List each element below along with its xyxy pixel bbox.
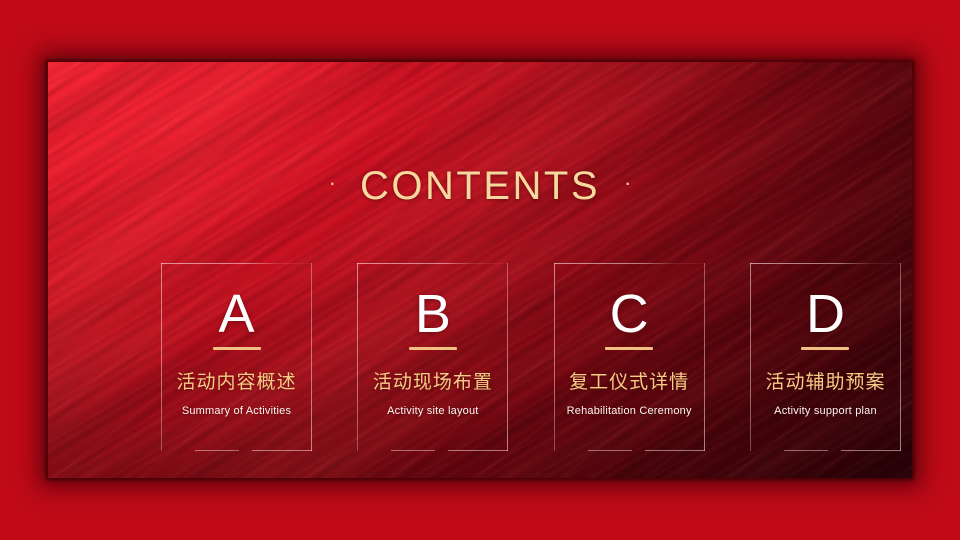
card-title-cn: 活动辅助预案 (744, 367, 907, 394)
card-border-top (161, 263, 312, 264)
card-border-top (554, 263, 705, 264)
card-letter: C (554, 285, 705, 343)
card-border-bottom-left (588, 450, 632, 451)
slide-stage: · CONTENTS · A 活动内容概述 Summary of Activit… (0, 0, 960, 540)
contents-card-list: A 活动内容概述 Summary of Activities B 活动现场布置 … (161, 263, 901, 451)
contents-card-b[interactable]: B 活动现场布置 Activity site layout (357, 263, 508, 451)
card-subtitle-en: Rehabilitation Ceremony (540, 405, 719, 417)
contents-card-d[interactable]: D 活动辅助预案 Activity support plan (750, 263, 901, 451)
contents-card-c[interactable]: C 复工仪式详情 Rehabilitation Ceremony (554, 263, 705, 451)
slide-panel: · CONTENTS · A 活动内容概述 Summary of Activit… (48, 62, 912, 478)
title-left-dot-icon: · (329, 172, 336, 194)
page-title: CONTENTS (360, 164, 600, 209)
card-border-bottom-left (391, 450, 435, 451)
card-border-bottom-right (448, 450, 508, 451)
card-subtitle-en: Summary of Activities (147, 405, 326, 417)
card-subtitle-en: Activity support plan (736, 405, 912, 417)
card-title-cn: 复工仪式详情 (548, 367, 711, 394)
card-letter: A (161, 285, 312, 343)
card-divider-rule (605, 347, 653, 350)
card-divider-rule (801, 347, 849, 350)
card-divider-rule (409, 347, 457, 350)
card-border-bottom-right (645, 450, 705, 451)
card-border-bottom-left (195, 450, 239, 451)
card-border-bottom-right (252, 450, 312, 451)
card-letter: D (750, 285, 901, 343)
contents-card-a[interactable]: A 活动内容概述 Summary of Activities (161, 263, 312, 451)
card-border-top (357, 263, 508, 264)
card-title-cn: 活动内容概述 (155, 367, 318, 394)
card-divider-rule (213, 347, 261, 350)
card-letter: B (357, 285, 508, 343)
card-border-top (750, 263, 901, 264)
title-right-dot-icon: · (624, 172, 631, 194)
title-row: · CONTENTS · (48, 158, 912, 214)
card-border-bottom-right (841, 450, 901, 451)
card-border-bottom-left (784, 450, 828, 451)
card-subtitle-en: Activity site layout (343, 405, 522, 417)
card-title-cn: 活动现场布置 (351, 367, 514, 394)
